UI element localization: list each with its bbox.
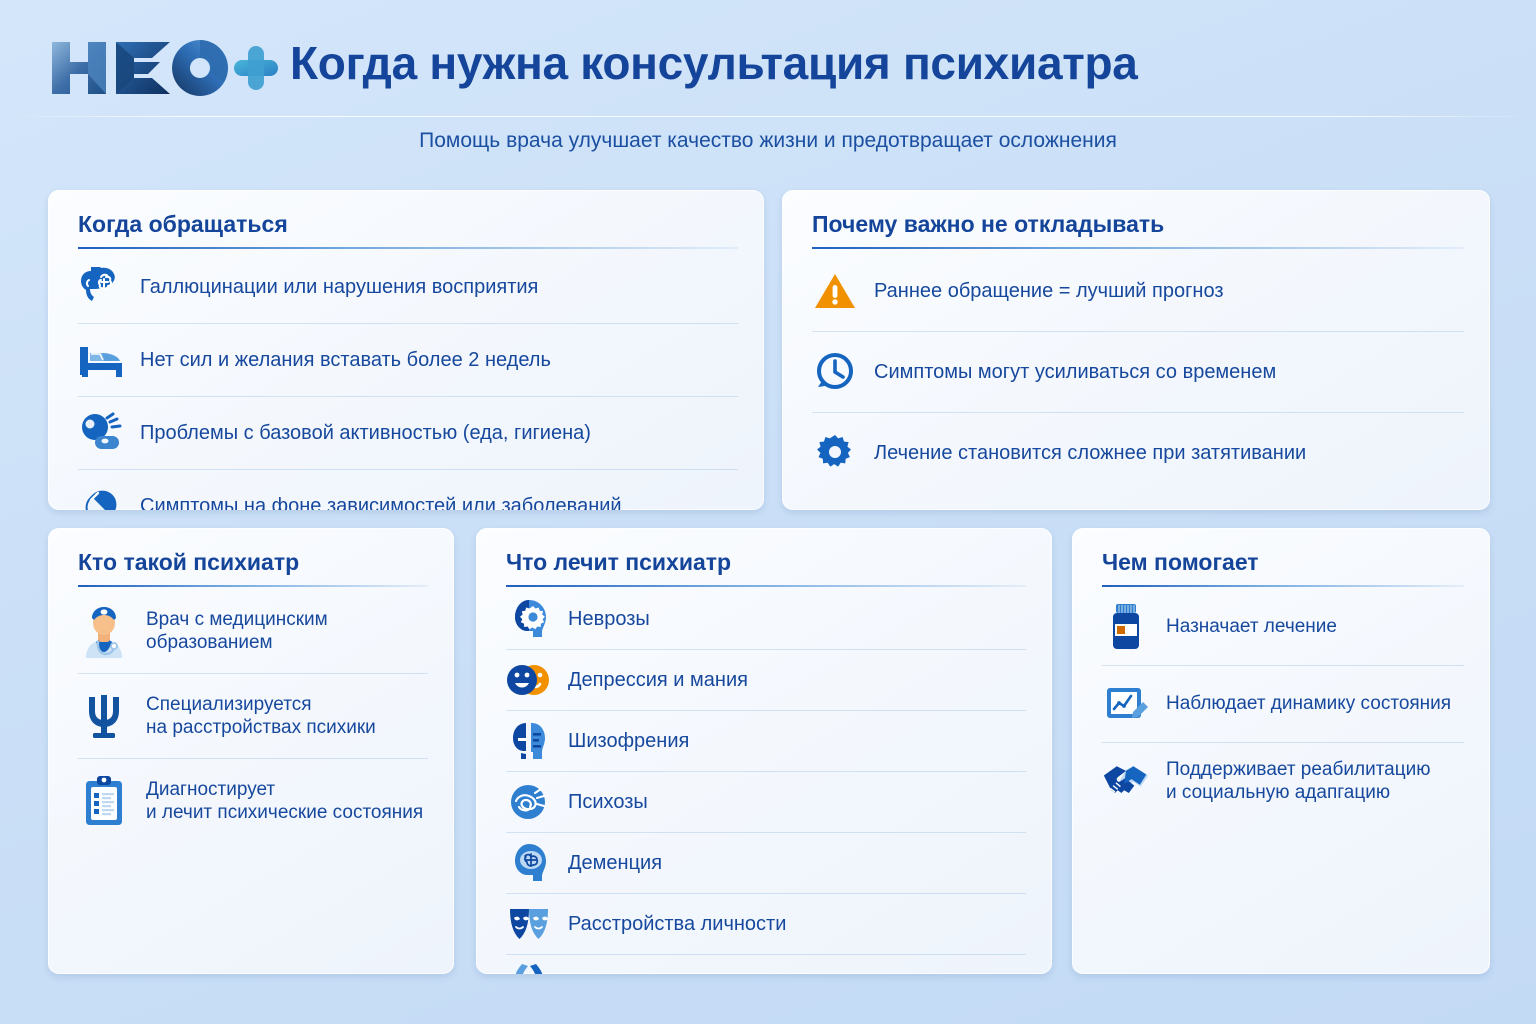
list-item[interactable]: Симптомы на фоне зависимостей или заболе… [78, 470, 738, 510]
theatre-masks-icon [506, 902, 552, 946]
list-item[interactable]: Галлюцинации или нарушения восприятия [78, 251, 738, 324]
list-item-label: Лечение становится сложнее при затятиван… [874, 441, 1306, 466]
psi-symbol-icon [78, 688, 130, 744]
list-item[interactable]: Раннее обращение = лучший прогноз [812, 251, 1464, 332]
header-divider [0, 116, 1536, 117]
list-item[interactable]: Депрессия и мания [506, 650, 1026, 711]
card-title-divider [1102, 585, 1464, 587]
list-item-label: Врач с медицинским образованием [146, 608, 328, 656]
list-item[interactable]: Проблемы с базовой активностью (еда, гиг… [78, 397, 738, 470]
list-item[interactable]: Неврозы [506, 589, 1026, 650]
clipboard-icon [78, 773, 130, 829]
page-title: Когда нужна консультация психиатра [290, 36, 1138, 90]
list-item[interactable]: Симптомы могут усиливаться со временем [812, 332, 1464, 413]
list-item-label: Симптомы могут усиливаться со временем [874, 360, 1276, 385]
handshake-icon [1102, 757, 1150, 805]
card-item-list: Врач с медицинским образованием Специали… [78, 589, 428, 843]
card-title-divider [812, 247, 1464, 249]
list-item-label: Неврозы [568, 607, 650, 632]
chart-monitor-icon [1102, 680, 1150, 728]
warning-triangle-icon [812, 268, 858, 314]
list-item[interactable]: Назначает лечение [1102, 589, 1464, 666]
medicine-bottle-icon [1102, 603, 1150, 651]
list-item[interactable]: Диагностирует и лечит психические состоя… [78, 759, 428, 843]
list-item-label: Поддерживает реабилитацию и социальную а… [1166, 758, 1431, 806]
hygiene-icon [78, 410, 124, 456]
list-item-label: Назначает лечение [1166, 615, 1337, 639]
list-item[interactable]: Болезнь Альцгеймера и Паркинсона [506, 955, 1026, 974]
list-item[interactable]: Врач с медицинским образованием [78, 589, 428, 674]
card-title: Чем помогает [1102, 550, 1464, 585]
card-title-divider [78, 247, 738, 249]
card-title-divider [78, 585, 428, 587]
list-item-label: Специализируется на расстройствах психик… [146, 693, 376, 741]
list-item-label: Шизофрения [568, 729, 689, 754]
card-what-psychiatrist-treats: Что лечит психиатр Неврозы [476, 528, 1052, 974]
head-gear-icon [506, 597, 552, 641]
list-item-label: Проблемы с базовой активностью (еда, гиг… [140, 421, 591, 446]
list-item-label: Диагностирует и лечит психические состоя… [146, 778, 423, 826]
list-item[interactable]: Деменция [506, 833, 1026, 894]
pill-icon [78, 483, 124, 510]
list-item[interactable]: Расстройства личности [506, 894, 1026, 955]
list-item-label: Галлюцинации или нарушения восприятия [140, 275, 538, 300]
gear-icon [812, 430, 858, 476]
card-why-not-delay: Почему важно не откладывать Раннее обращ… [782, 190, 1490, 510]
card-item-list: Назначает лечение Наблюдает динамику сос… [1102, 589, 1464, 819]
list-item[interactable]: Нет сил и желания вставать более 2 недел… [78, 324, 738, 397]
list-item[interactable]: Шизофрения [506, 711, 1026, 772]
list-item-label: Депрессия и мания [568, 668, 748, 693]
head-brain-icon [506, 841, 552, 885]
list-item-label: Раннее обращение = лучший прогноз [874, 279, 1224, 304]
list-item[interactable]: Психозы [506, 772, 1026, 833]
card-title: Что лечит психиатр [506, 550, 1026, 585]
tangled-head-icon [506, 780, 552, 824]
card-who-is-psychiatrist: Кто такой психиатр Врач с медицинским [48, 528, 454, 974]
doctor-icon [78, 603, 130, 659]
split-head-icon [506, 719, 552, 763]
card-title-divider [506, 585, 1026, 587]
card-when-to-seek-help: Когда обращаться Галлюцинации или наруше… [48, 190, 764, 510]
list-item-label: Симптомы на фоне зависимостей или заболе… [140, 494, 622, 510]
list-item[interactable]: Специализируется на расстройствах психик… [78, 674, 428, 759]
card-title: Почему важно не откладывать [812, 212, 1464, 247]
page-subtitle: Помощь врача улучшает качество жизни и п… [0, 129, 1536, 153]
two-faces-icon [506, 658, 552, 702]
card-how-it-helps: Чем помогает Назначает лечение [1072, 528, 1490, 974]
card-title: Кто такой психиатр [78, 550, 428, 585]
awareness-ribbon-icon [506, 963, 552, 974]
list-item[interactable]: Лечение становится сложнее при затятиван… [812, 413, 1464, 493]
brain-icon [78, 264, 124, 310]
card-item-list: Неврозы Депрессия и мания [506, 589, 1026, 974]
list-item[interactable]: Наблюдает динамику состояния [1102, 666, 1464, 743]
card-item-list: Галлюцинации или нарушения восприятия Не… [78, 251, 738, 510]
list-item-label: Нет сил и желания вставать более 2 недел… [140, 348, 551, 373]
list-item-label: Расстройства личности [568, 912, 786, 937]
list-item-label: Психозы [568, 790, 648, 815]
bed-icon [78, 337, 124, 383]
list-item[interactable]: Поддерживает реабилитацию и социальную а… [1102, 743, 1464, 819]
card-title: Когда обращаться [78, 212, 738, 247]
list-item-label: Наблюдает динамику состояния [1166, 692, 1451, 716]
card-item-list: Раннее обращение = лучший прогноз Симпто… [812, 251, 1464, 493]
list-item-label: Болезнь Альцгеймера и Паркинсона [568, 973, 907, 974]
page-header: Когда нужна консультация психиатра Помощ… [0, 0, 1536, 165]
neo-plus-logo [48, 32, 280, 104]
list-item-label: Деменция [568, 851, 662, 876]
clock-icon [812, 349, 858, 395]
